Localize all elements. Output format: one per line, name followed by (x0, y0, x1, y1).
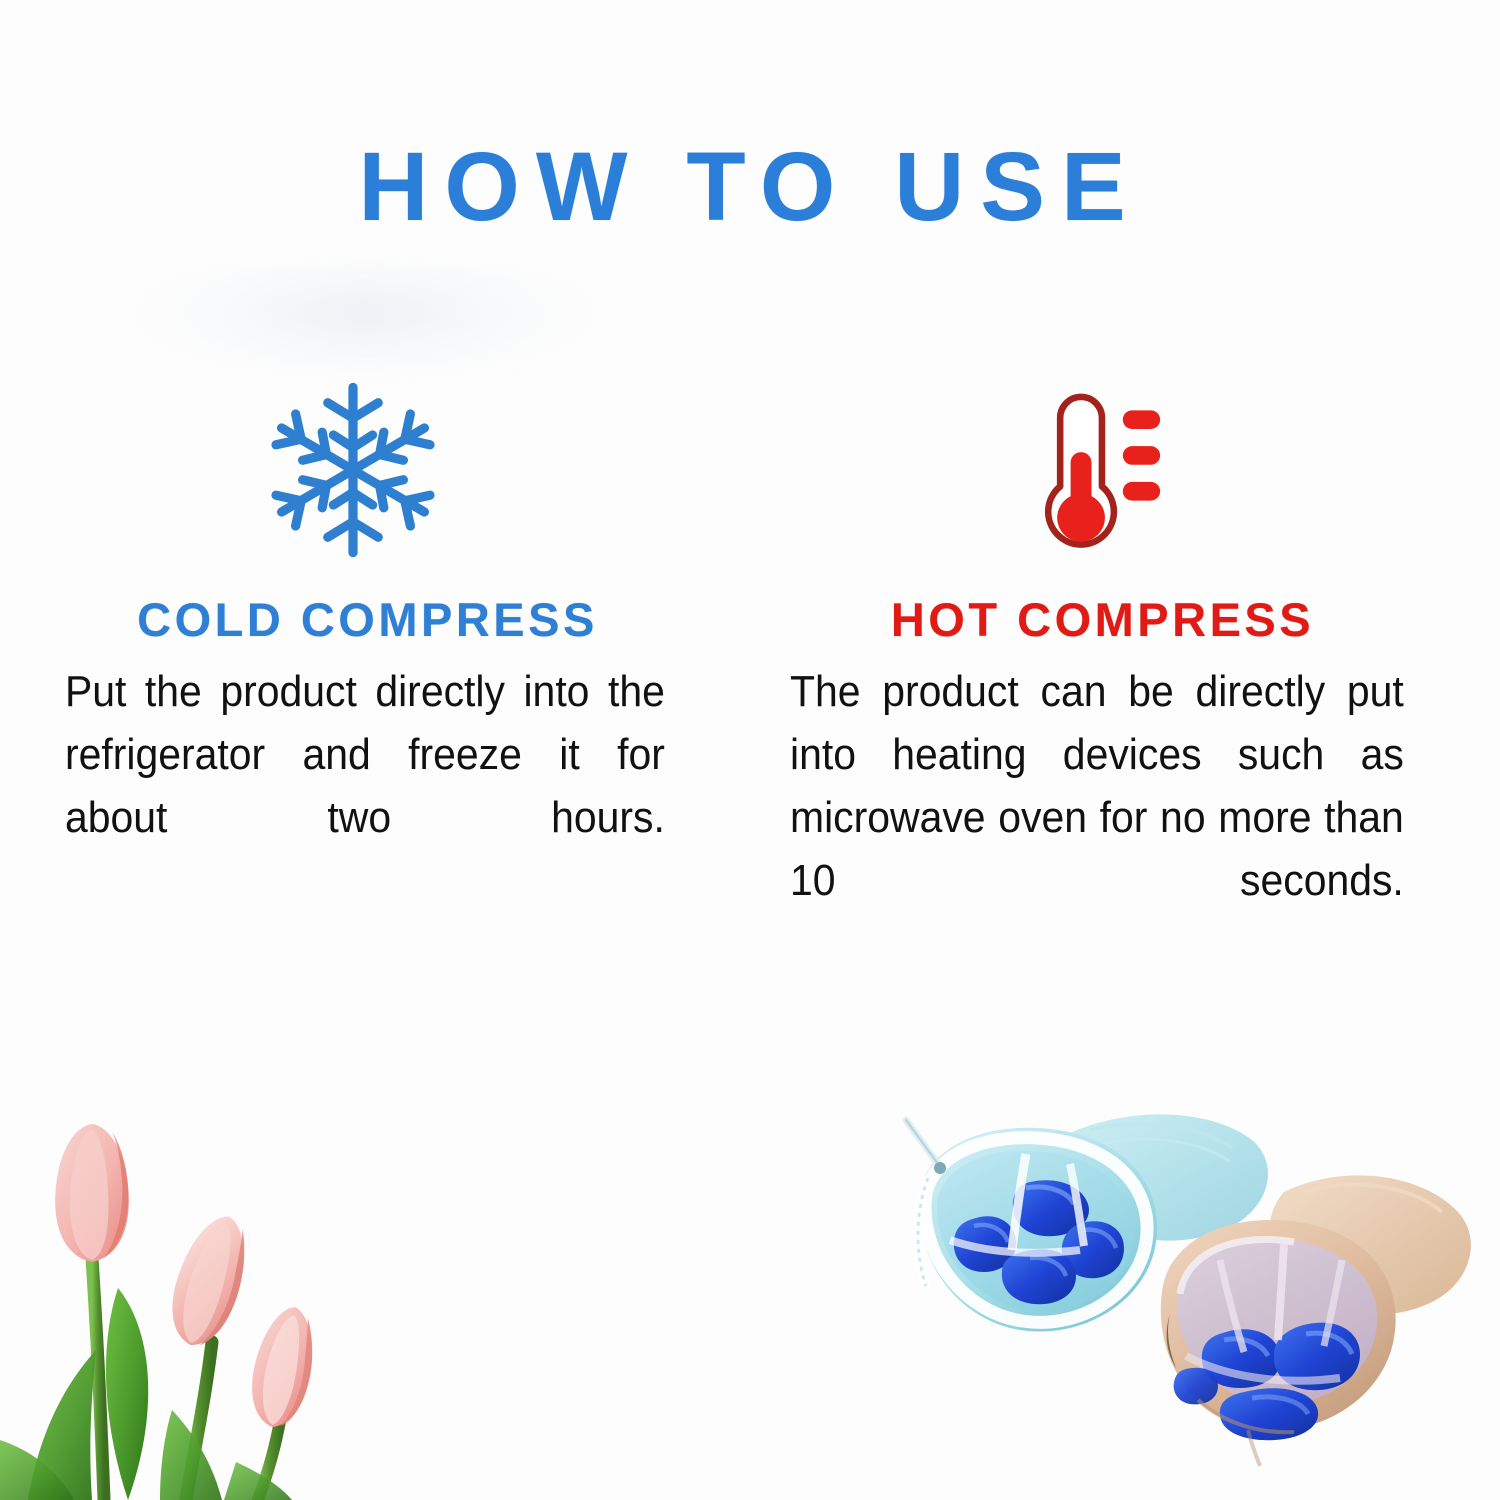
tulip-bloom (161, 1208, 258, 1354)
cold-compress-body: Put the product directly into the refrig… (65, 661, 665, 913)
snowflake-icon (269, 379, 437, 561)
cold-compress-icon-wrap (40, 370, 740, 570)
pink-tulips-photo (0, 1110, 430, 1500)
background-watermark (130, 265, 600, 385)
cold-compress-heading: COLD COMPRESS (40, 592, 740, 647)
hot-compress-section: HOT COMPRESS The product can be directly… (770, 370, 1470, 976)
cold-compress-section: COLD COMPRESS Put the product directly i… (40, 370, 740, 913)
page-title: HOW TO USE (0, 136, 1500, 238)
hot-compress-heading: HOT COMPRESS (770, 592, 1470, 647)
tulip-bloom (55, 1124, 129, 1262)
gel-cap-product-photo (880, 1100, 1500, 1500)
infographic-page: HOW TO USE (0, 0, 1500, 1500)
tulip-bloom (245, 1302, 322, 1432)
thermometer-icon (1015, 379, 1165, 561)
hot-compress-icon-wrap (770, 370, 1470, 570)
hot-compress-body: The product can be directly put into hea… (790, 661, 1404, 976)
